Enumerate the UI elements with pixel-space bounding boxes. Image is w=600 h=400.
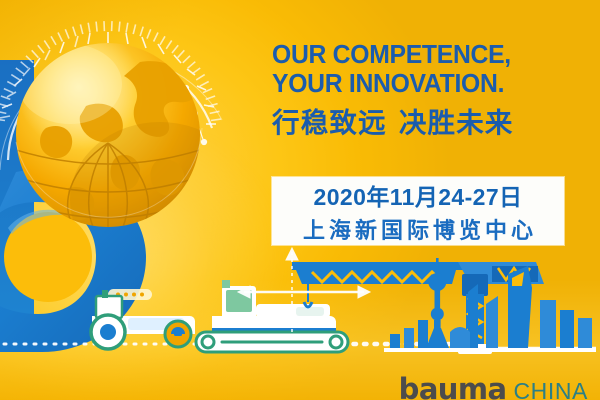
headline-line-2: YOUR INNOVATION. (272, 71, 575, 98)
headline-chinese: 行稳致远决胜未来 (272, 108, 584, 137)
logo-region-text: CHINA (513, 380, 588, 400)
event-date-venue-box: 2020年11月24-27日 上海新国际博览中心 (272, 177, 564, 245)
golden-globe-3d (0, 10, 230, 260)
headline-chinese-right: 决胜未来 (399, 107, 514, 138)
headline-chinese-left: 行稳致远 (272, 107, 387, 138)
excavator-icon (196, 280, 348, 352)
event-venue: 上海新国际博览中心 (299, 213, 537, 245)
logo-brand-text: bauma (399, 375, 507, 400)
bauma-china-logo: bauma CHINA (399, 375, 588, 400)
event-dates: 2020年11月24-27日 (314, 178, 523, 212)
machinery-scene (0, 244, 600, 362)
headline-line-1: OUR COMPETENCE, (272, 42, 575, 69)
bauma-china-banner: OUR COMPETENCE, YOUR INNOVATION. 行稳致远决胜未… (0, 0, 600, 400)
headline-block: OUR COMPETENCE, YOUR INNOVATION. 行稳致远决胜未… (272, 42, 584, 137)
